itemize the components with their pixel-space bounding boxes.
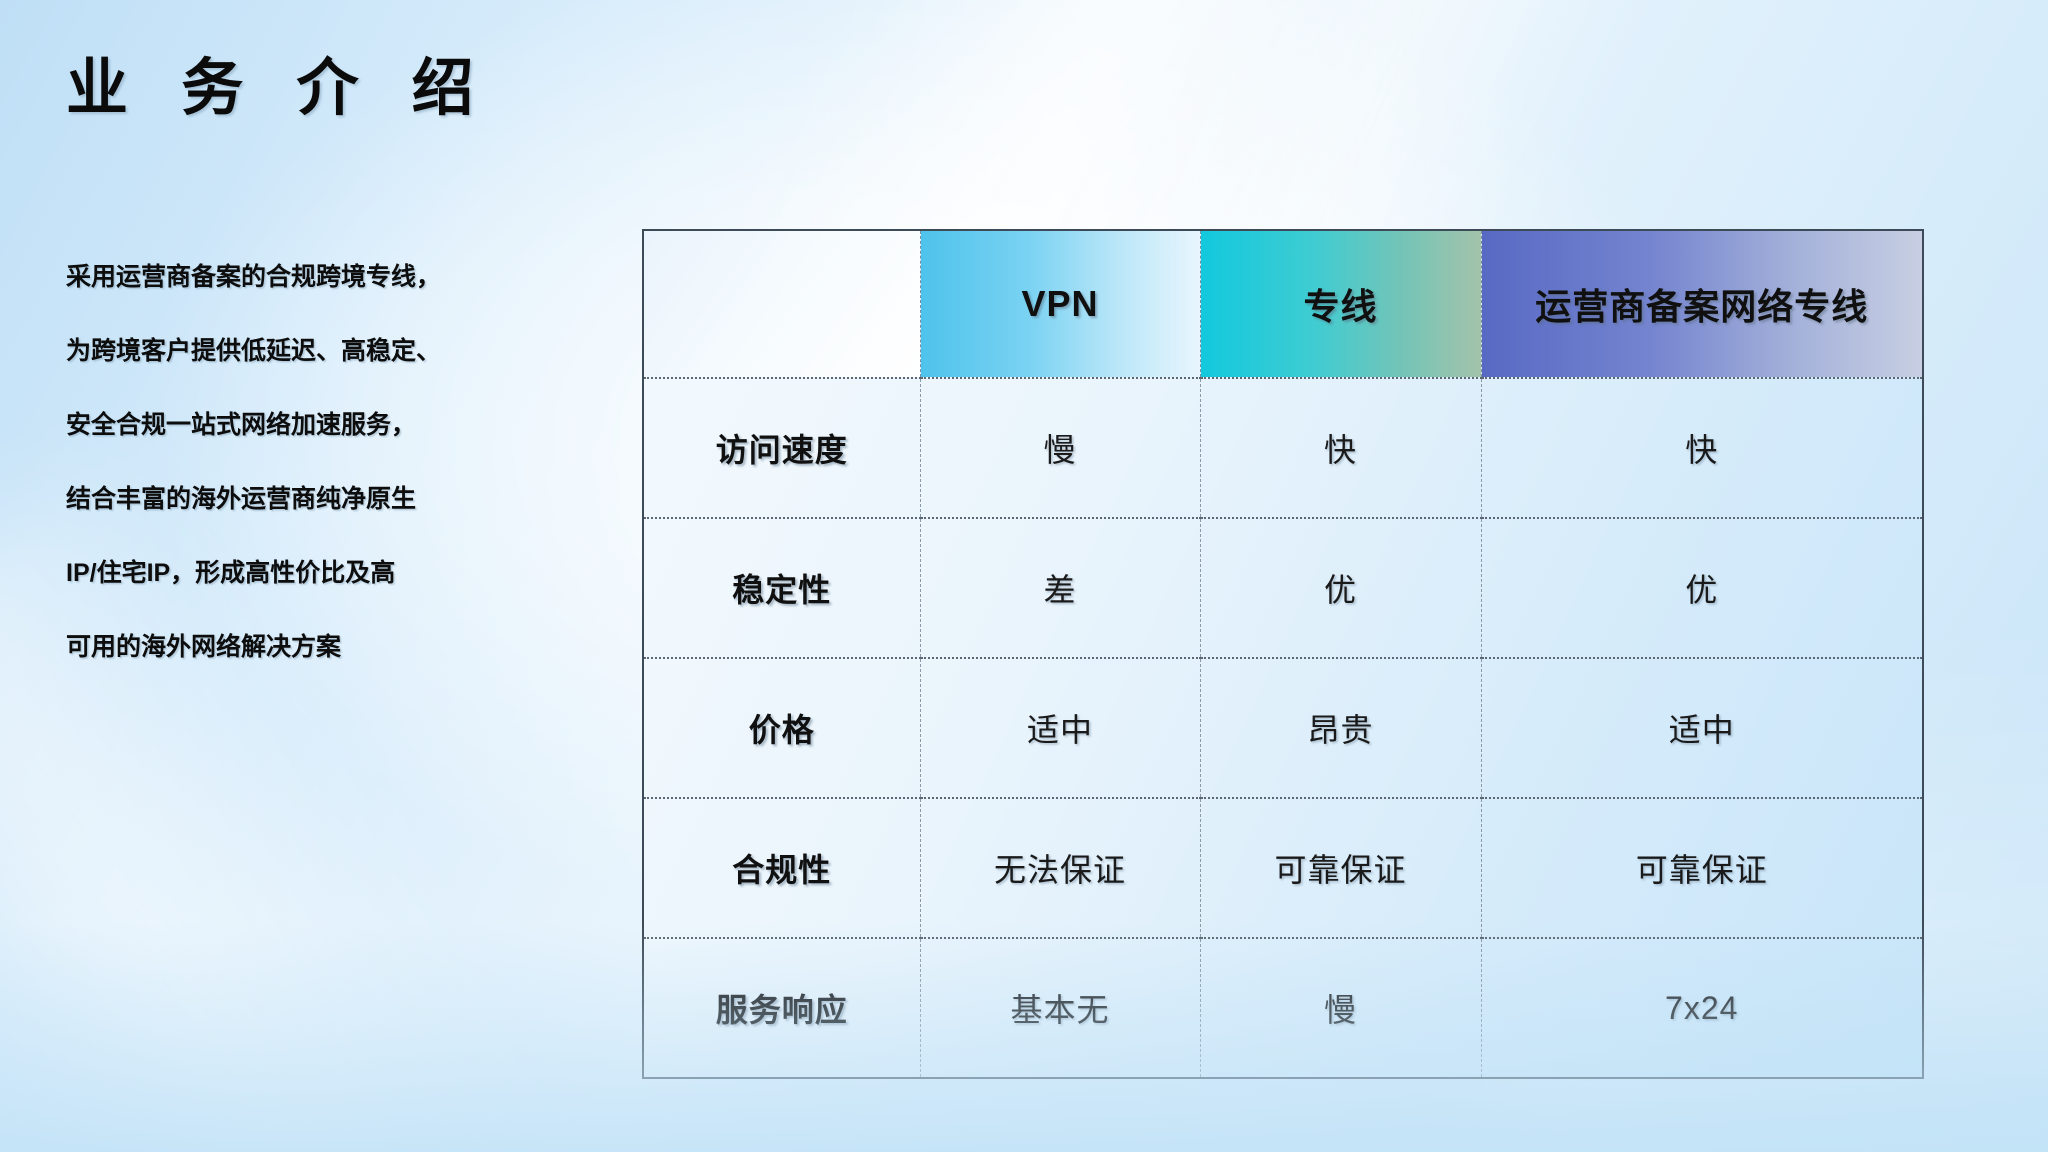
table-header-label: VPN: [1021, 283, 1098, 325]
comparison-table: VPN 专线 运营商备案网络专线: [642, 229, 1924, 1079]
slide-canvas: 业 务 介 绍 采用运营商备案的合规跨境专线， 为跨境客户提供低延迟、高稳定、 …: [0, 0, 2048, 1152]
table-header-cell-vpn: VPN: [920, 231, 1200, 378]
row-label: 访问速度: [644, 378, 920, 518]
table-row: 稳定性 差 优 优: [644, 518, 1922, 658]
table-header-label: 运营商备案网络专线: [1535, 278, 1868, 330]
description-line: 采用运营商备案的合规跨境专线，: [66, 240, 586, 314]
description-block: 采用运营商备案的合规跨境专线， 为跨境客户提供低延迟、高稳定、 安全合规一站式网…: [66, 240, 586, 684]
description-line: 结合丰富的海外运营商纯净原生: [66, 462, 586, 536]
cell-value: 7x24: [1481, 938, 1922, 1077]
header-cell-fill: VPN: [921, 231, 1200, 377]
row-label: 合规性: [644, 798, 920, 938]
cell-value: 优: [1481, 518, 1922, 658]
cell-value: 适中: [920, 658, 1200, 798]
table-row: 服务响应 基本无 慢 7x24: [644, 938, 1922, 1077]
table-header-cell-dedicated-line: 专线: [1200, 231, 1481, 378]
header-cell-fill: 专线: [1201, 231, 1481, 377]
comparison-table-grid: VPN 专线 运营商备案网络专线: [644, 231, 1922, 1077]
cell-value: 可靠保证: [1200, 798, 1481, 938]
table-body: 访问速度 慢 快 快 稳定性 差 优 优 价格 适中 昂贵 适中: [644, 378, 1922, 1077]
cell-value: 优: [1200, 518, 1481, 658]
table-header-cell-blank: [644, 231, 920, 378]
description-line: IP/住宅IP，形成高性价比及高: [66, 536, 586, 610]
page-title: 业 务 介 绍: [66, 55, 492, 123]
cell-value: 快: [1200, 378, 1481, 518]
table-row: 价格 适中 昂贵 适中: [644, 658, 1922, 798]
table-header-row: VPN 专线 运营商备案网络专线: [644, 231, 1922, 378]
cell-value: 无法保证: [920, 798, 1200, 938]
table-header-label: 专线: [1303, 278, 1377, 330]
table-header-cell-isp-line: 运营商备案网络专线: [1481, 231, 1922, 378]
cell-value: 基本无: [920, 938, 1200, 1077]
table-row: 访问速度 慢 快 快: [644, 378, 1922, 518]
table-row: 合规性 无法保证 可靠保证 可靠保证: [644, 798, 1922, 938]
header-cell-fill: [644, 231, 920, 377]
row-label: 价格: [644, 658, 920, 798]
cell-value: 可靠保证: [1481, 798, 1922, 938]
cell-value: 快: [1481, 378, 1922, 518]
cell-value: 适中: [1481, 658, 1922, 798]
cell-value: 慢: [1200, 938, 1481, 1077]
description-line: 为跨境客户提供低延迟、高稳定、: [66, 314, 586, 388]
cell-value: 慢: [920, 378, 1200, 518]
description-line: 可用的海外网络解决方案: [66, 610, 586, 684]
header-cell-fill: 运营商备案网络专线: [1482, 231, 1923, 377]
description-line: 安全合规一站式网络加速服务，: [66, 388, 586, 462]
cell-value: 差: [920, 518, 1200, 658]
row-label: 服务响应: [644, 938, 920, 1077]
cell-value: 昂贵: [1200, 658, 1481, 798]
table-header: VPN 专线 运营商备案网络专线: [644, 231, 1922, 378]
row-label: 稳定性: [644, 518, 920, 658]
